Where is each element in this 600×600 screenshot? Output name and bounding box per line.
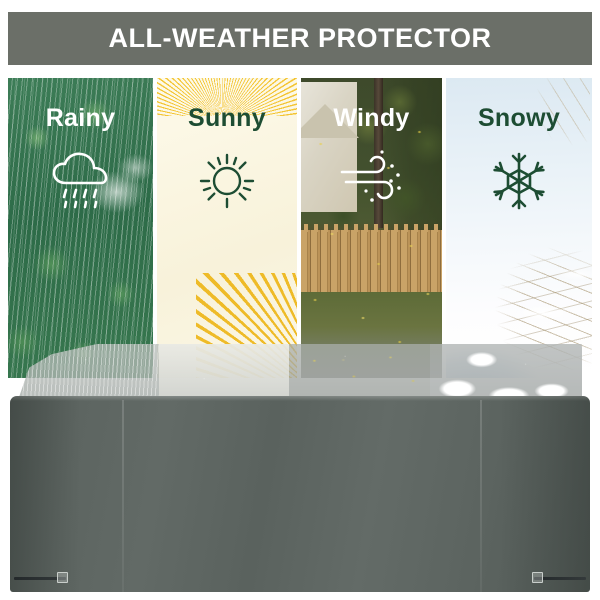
weather-label-snowy: Snowy <box>446 104 592 133</box>
wind-icon <box>301 150 442 208</box>
snowflake-icon <box>446 150 592 212</box>
cover-buckle-left <box>57 572 68 583</box>
cover-front-panel <box>10 396 590 592</box>
cover-buckle-right <box>532 572 543 583</box>
cover-right-shading <box>500 396 590 592</box>
cover-top-surface <box>18 344 582 400</box>
sun-icon <box>157 150 297 212</box>
cover-seam-left <box>122 400 124 592</box>
cover-top-texture <box>18 344 582 400</box>
weather-label-rainy: Rainy <box>8 104 153 133</box>
header-banner: ALL-WEATHER PROTECTOR <box>8 12 592 65</box>
weather-label-windy: Windy <box>301 104 442 133</box>
cover-seam-right <box>480 400 482 592</box>
furniture-cover <box>0 330 600 600</box>
cover-left-shading <box>10 396 80 592</box>
product-marketing-image: ALL-WEATHER PROTECTOR Rainy S <box>0 0 600 600</box>
weather-label-sunny: Sunny <box>157 104 297 133</box>
rain-cloud-icon <box>8 150 153 212</box>
page-title: ALL-WEATHER PROTECTOR <box>109 23 492 54</box>
